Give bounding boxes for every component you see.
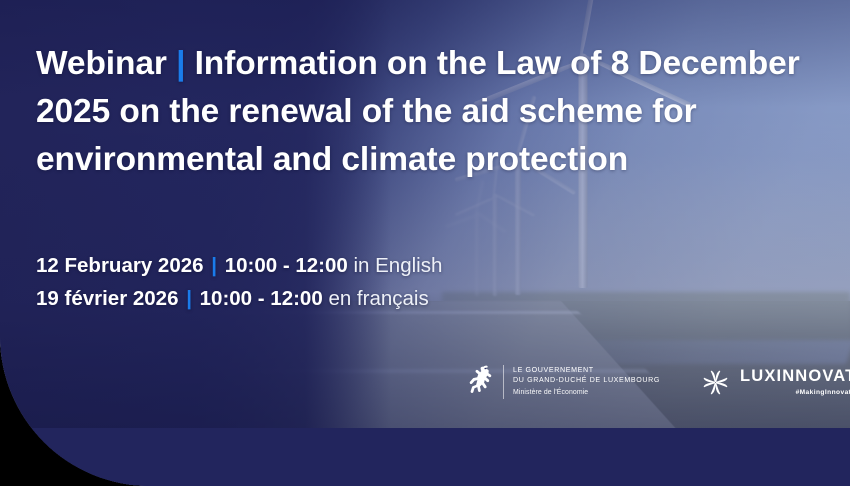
- session-time: 10:00 - 12:00: [200, 287, 323, 310]
- logo-divider: [503, 365, 504, 399]
- session-row: 19 février 2026 | 10:00 - 12:00 en franç…: [36, 282, 442, 315]
- logo-row: LE GOUVERNEMENT DU GRAND-DUCHÉ DE LUXEMB…: [468, 364, 850, 400]
- webinar-banner: Webinar | Information on the Law of 8 De…: [0, 0, 850, 486]
- page-title: Webinar | Information on the Law of 8 De…: [36, 40, 826, 185]
- session-separator: |: [184, 287, 194, 310]
- headline-separator-glyph: |: [176, 45, 185, 82]
- session-date: 12 February 2026: [36, 254, 204, 277]
- session-separator: |: [209, 254, 219, 277]
- headline-separator: |: [167, 45, 195, 82]
- session-date: 19 février 2026: [36, 287, 178, 310]
- luxinnovation-x-mark-icon: [702, 369, 729, 396]
- government-logo: LE GOUVERNEMENT DU GRAND-DUCHÉ DE LUXEMB…: [468, 364, 660, 400]
- luxembourg-lion-icon: [468, 364, 494, 400]
- luxinnovation-text: LUXINNOVATION #MakingInnovationHappen: [740, 368, 850, 396]
- headline-part-one: Webinar: [36, 45, 167, 82]
- session-language: en français: [328, 287, 428, 310]
- luxinnovation-logo: LUXINNOVATION #MakingInnovationHappen: [702, 368, 850, 396]
- session-time: 10:00 - 12:00: [225, 254, 348, 277]
- session-row: 12 February 2026 | 10:00 - 12:00 in Engl…: [36, 249, 442, 282]
- government-logo-text: LE GOUVERNEMENT DU GRAND-DUCHÉ DE LUXEMB…: [513, 366, 660, 397]
- luxinnovation-name: LUXINNOVATION: [740, 368, 850, 385]
- banner-content: Webinar | Information on the Law of 8 De…: [0, 0, 850, 486]
- session-list: 12 February 2026 | 10:00 - 12:00 in Engl…: [36, 249, 442, 315]
- luxinnovation-tagline: #MakingInnovationHappen: [740, 389, 850, 396]
- government-line-3: Ministère de l'Économie: [513, 388, 660, 398]
- government-line-2: DU GRAND-DUCHÉ DE LUXEMBOURG: [513, 376, 660, 386]
- session-language: in English: [353, 254, 442, 277]
- government-line-1: LE GOUVERNEMENT: [513, 366, 660, 376]
